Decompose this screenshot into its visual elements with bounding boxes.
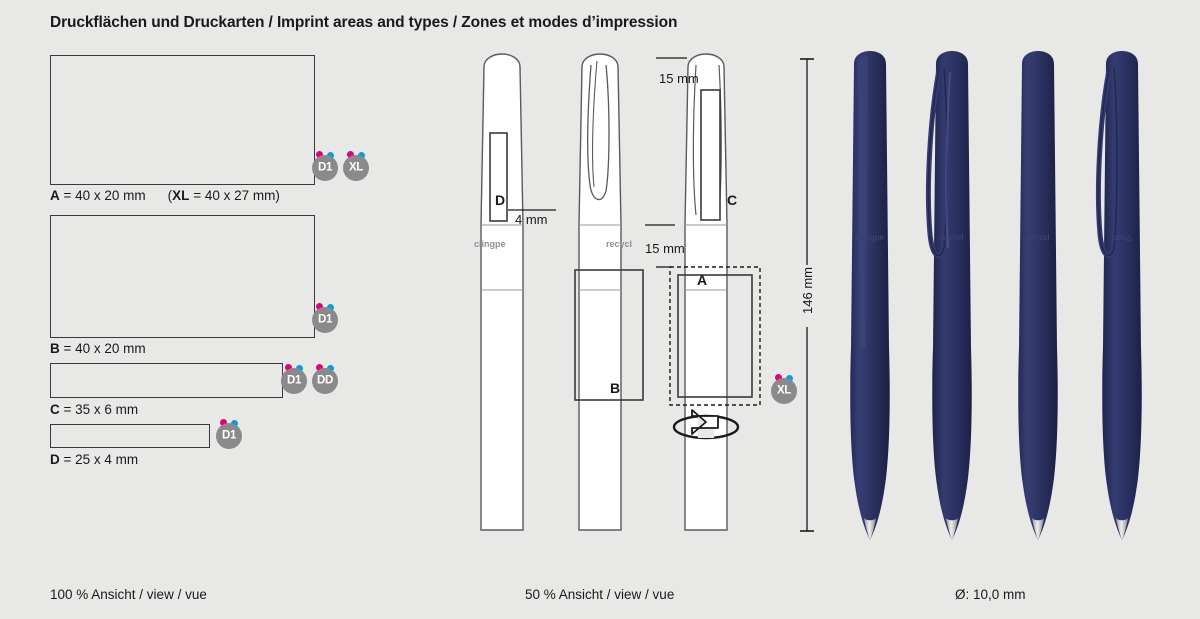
area-label-b: B [610,380,620,396]
middle-pen-diagrams [460,45,820,545]
badge-d1-area-a[interactable]: D1 [312,148,338,181]
imprint-caption-d: D = 25 x 4 mm [50,452,138,467]
imprint-caption-a-xl-text: = 40 x 27 mm [189,188,275,203]
dimension-15mm-top: 15 mm [659,71,699,86]
badge-d1-area-b[interactable]: D1 [312,300,338,333]
footer-scale-left: 100 % Ansicht / view / vue [50,587,207,602]
dimension-146mm: 146 mm [800,267,815,314]
badge-label: D1 [222,431,236,443]
pen-outline-side-clip [579,54,621,530]
svg-text:pen△: pen△ [1112,233,1133,242]
pen-outline-front [481,54,523,530]
badge-circle: XL [343,155,369,181]
badge-xl-middle[interactable]: XL [771,371,797,404]
right-panel-pen-renders: clingpe recycl recycl pen△ [840,48,1160,548]
area-label-d: D [495,192,505,208]
svg-text:recycl: recycl [1026,233,1049,242]
barrel-brand-right: recycl [606,239,632,249]
pen-render-2-clip: recycl [928,51,971,540]
badge-xl-area-a[interactable]: XL [343,148,369,181]
badge-label: D1 [287,376,301,388]
svg-text:recycl: recycl [940,233,963,242]
badge-circle: XL [771,378,797,404]
svg-text:clingpe: clingpe [856,233,885,242]
area-label-a: A [697,272,707,288]
badge-label: D1 [318,163,332,175]
imprint-caption-d-text: = 25 x 4 mm [60,452,138,467]
spec-sheet: Druckflächen und Druckarten / Imprint ar… [0,0,1200,619]
imprint-caption-c-text: = 35 x 6 mm [60,402,138,417]
imprint-caption-b: B = 40 x 20 mm [50,341,146,356]
badge-d1-area-d[interactable]: D1 [216,416,242,449]
footer-scale-center: 50 % Ansicht / view / vue [525,587,674,602]
imprint-caption-a-xl-prefix: XL [172,188,189,203]
badge-label: D1 [318,315,332,327]
badge-d1-area-c[interactable]: D1 [281,361,307,394]
imprint-rect-c [50,363,283,398]
imprint-area-c-box [701,90,720,220]
dimension-15mm-barrel: 15 mm [645,241,685,256]
badge-circle: D1 [281,368,307,394]
imprint-caption-a-text: = 40 x 20 mm [60,188,146,203]
imprint-rect-d [50,424,210,448]
page-title: Druckflächen und Druckarten / Imprint ar… [50,14,677,32]
imprint-caption-d-prefix: D [50,452,60,467]
imprint-caption-a-prefix: A [50,188,60,203]
badge-circle: D1 [312,155,338,181]
imprint-rect-a [50,55,315,185]
footer-diameter: Ø: 10,0 mm [955,587,1026,602]
badge-circle: D1 [216,423,242,449]
imprint-caption-b-text: = 40 x 20 mm [60,341,146,356]
imprint-caption-c: C = 35 x 6 mm [50,402,138,417]
badge-circle: D1 [312,307,338,333]
badge-label: XL [777,386,791,398]
imprint-rect-b [50,215,315,338]
area-label-c: C [727,192,737,208]
barrel-brand-left: clingpe [474,239,506,249]
badge-circle: DD [312,368,338,394]
pen-render-1: clingpe [850,51,890,540]
badge-label: DD [317,376,333,388]
imprint-caption-b-prefix: B [50,341,60,356]
dimension-4mm: 4 mm [515,212,548,227]
badge-label: XL [349,163,363,175]
pen-render-4-clip: pen△ [1098,51,1141,540]
pen-render-3: recycl [1018,51,1058,540]
badge-dd-area-c[interactable]: DD [312,361,338,394]
imprint-caption-a: A = 40 x 20 mm(XL = 40 x 27 mm) [50,188,280,203]
imprint-caption-c-prefix: C [50,402,60,417]
